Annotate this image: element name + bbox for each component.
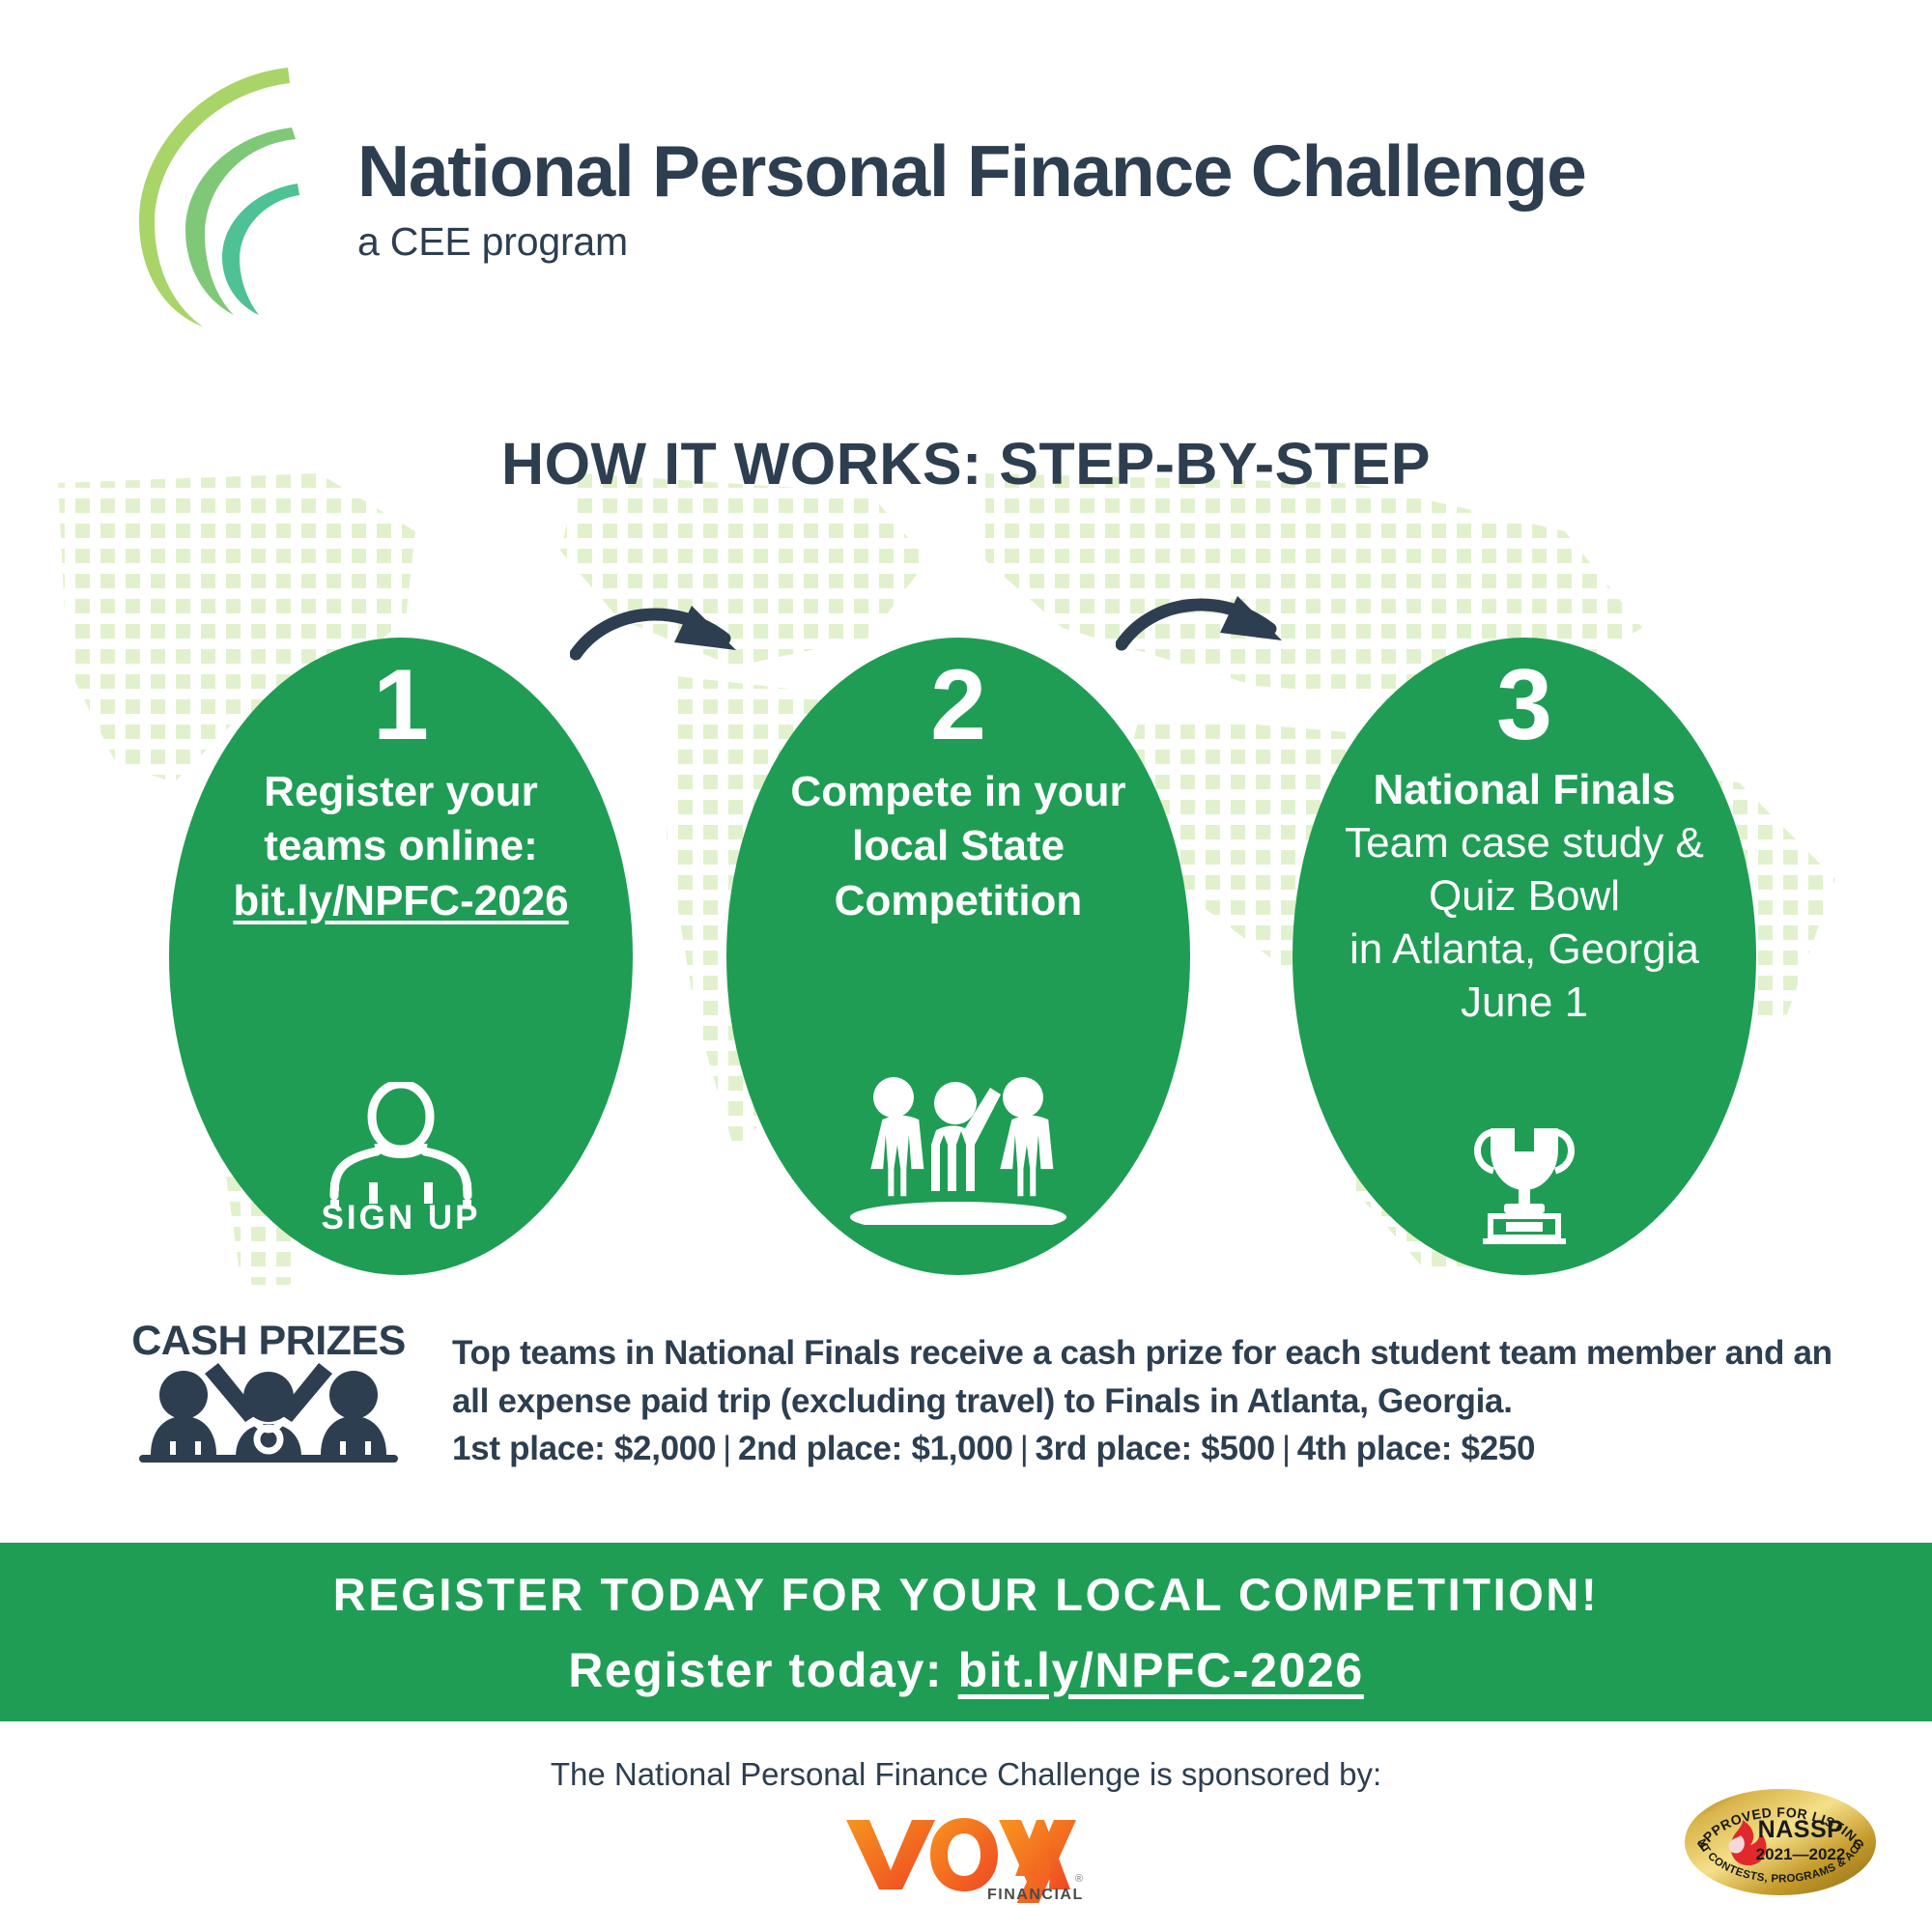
sign-up-person-icon: SIGN UP <box>309 1082 493 1236</box>
step-circle-2: 2 Compete in your local State Competitio… <box>726 638 1190 1275</box>
step-number-2: 2 <box>726 655 1190 755</box>
prize-separator-2: | <box>1013 1430 1036 1467</box>
step-1-line-1: Register your <box>215 765 586 819</box>
three-people-podium-icon <box>847 1070 1069 1225</box>
cta-register-link[interactable]: bit.ly/NPFC-2026 <box>958 1643 1364 1697</box>
prizes-places-line: 1st place: $2,000|2nd place: $1,000|3rd … <box>452 1425 1824 1473</box>
step-1-icon-wrap: SIGN UP <box>169 1082 633 1236</box>
cash-prizes-winners-icon: CASH PRIZES <box>124 1320 413 1474</box>
cta-headline: REGISTER TODAY FOR YOUR LOCAL COMPETITIO… <box>0 1568 1932 1621</box>
prize-separator-1: | <box>716 1430 738 1467</box>
sign-up-label: SIGN UP <box>322 1199 481 1236</box>
prize-place-4: 4th place: $250 <box>1297 1430 1535 1467</box>
step-text-1: Register your teams online: bit.ly/NPFC-… <box>169 765 633 928</box>
step-3-line-2: Quiz Bowl <box>1339 869 1710 923</box>
step-2-icon-wrap <box>726 1070 1190 1225</box>
step-number-1: 1 <box>169 655 633 755</box>
step-3-icon-wrap <box>1293 1121 1756 1244</box>
cta-prefix: Register today: <box>568 1643 957 1697</box>
step-number-3: 3 <box>1293 655 1756 755</box>
cash-prizes-block: CASH PRIZES <box>0 1312 1932 1495</box>
step-circle-3: 3 National Finals Team case study & Quiz… <box>1293 638 1756 1275</box>
section-heading: HOW IT WORKS: STEP-BY-STEP <box>0 430 1932 497</box>
prize-place-3: 3rd place: $500 <box>1036 1430 1275 1467</box>
prize-place-2: 2nd place: $1,000 <box>738 1430 1013 1467</box>
voya-registered-mark: ® <box>1075 1873 1083 1885</box>
voya-financial-logo: FINANCIAL ® <box>840 1814 1092 1903</box>
cee-arcs-logo-icon <box>126 56 386 327</box>
register-cta-banner: REGISTER TODAY FOR YOUR LOCAL COMPETITIO… <box>0 1543 1932 1721</box>
prize-separator-3: | <box>1275 1430 1297 1467</box>
step-3-line-4: June 1 <box>1339 976 1710 1029</box>
step-2-line-2: local State <box>773 819 1144 873</box>
step-3-line-3: in Atlanta, Georgia <box>1339 923 1710 976</box>
step-circle-1: 1 Register your teams online: bit.ly/NPF… <box>169 638 633 1275</box>
prizes-line-2: all expense paid trip (excluding travel)… <box>452 1378 1824 1426</box>
step-3-line-1: Team case study & <box>1339 816 1710 869</box>
trophy-icon <box>1462 1121 1587 1244</box>
step-2-line-3: Competition <box>773 874 1144 928</box>
steps-row: 1 Register your teams online: bit.ly/NPF… <box>0 638 1932 1294</box>
prizes-line-1: Top teams in National Finals receive a c… <box>452 1329 1824 1378</box>
nassp-years: 2021—2022 <box>1756 1845 1846 1863</box>
cash-prizes-label: CASH PRIZES <box>131 1320 406 1364</box>
brand-logo: National Personal Finance Challenge a CE… <box>126 56 1497 336</box>
nassp-approved-badge: APPROVED FOR LISTING STUDENT CONTESTS, P… <box>1683 1785 1878 1899</box>
nassp-name: NASSP <box>1758 1816 1844 1843</box>
infographic-page: National Personal Finance Challenge a CE… <box>0 0 1932 1932</box>
step-3-heading: National Finals <box>1339 765 1710 816</box>
cta-register-line: Register today: bit.ly/NPFC-2026 <box>0 1642 1932 1698</box>
prize-place-1: 1st place: $2,000 <box>452 1430 716 1467</box>
sponsor-note: The National Personal Finance Challenge … <box>0 1756 1932 1793</box>
step-1-line-2: teams online: <box>215 819 586 873</box>
page-title: National Personal Finance Challenge <box>357 135 1613 208</box>
step-2-line-1: Compete in your <box>773 765 1144 819</box>
voya-subtext: FINANCIAL <box>987 1887 1084 1903</box>
cash-prizes-description: Top teams in National Finals receive a c… <box>452 1329 1824 1473</box>
step-1-register-link[interactable]: bit.ly/NPFC-2026 <box>215 874 586 928</box>
page-subtitle: a CEE program <box>357 219 1613 265</box>
step-text-3: National Finals Team case study & Quiz B… <box>1293 765 1756 1029</box>
step-text-2: Compete in your local State Competition <box>726 765 1190 928</box>
